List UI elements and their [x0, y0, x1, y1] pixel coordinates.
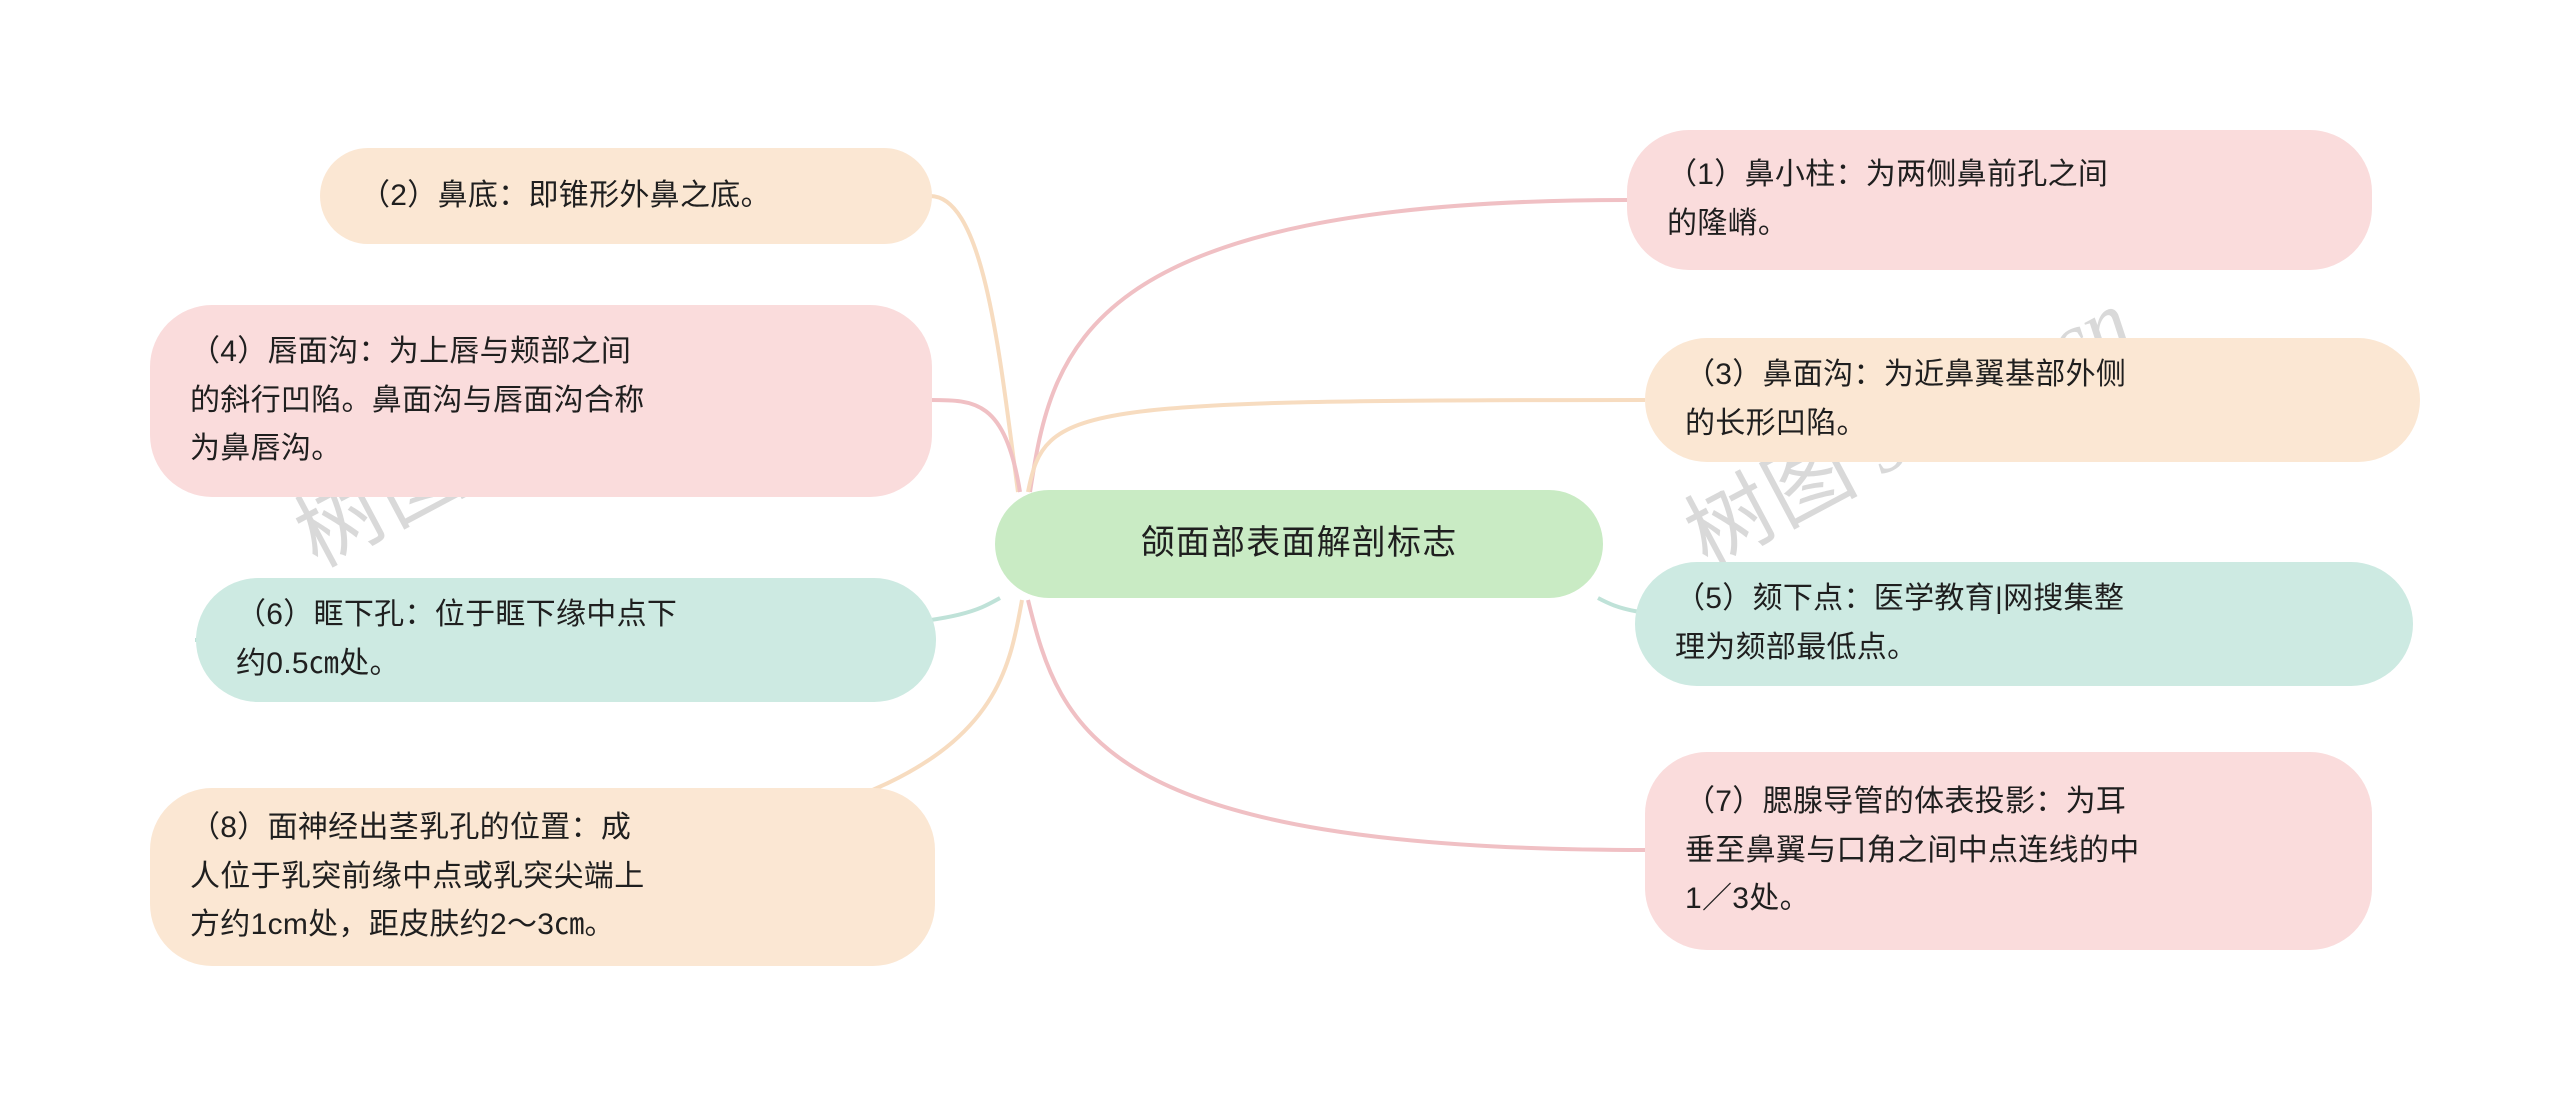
- node-center[interactable]: 颌面部表面解剖标志: [995, 490, 1603, 598]
- edge-to-node-4: [930, 400, 1020, 492]
- mindmap-canvas: 树图 shutu.cn 树图 shutu.cn （2）鼻底：即锥形外鼻之底。 （…: [0, 0, 2560, 1103]
- node-7[interactable]: （7）腮腺导管的体表投影：为耳 垂至鼻翼与口角之间中点连线的中 1／3处。: [1645, 752, 2372, 950]
- edge-to-node-3: [1028, 400, 1645, 492]
- node-3[interactable]: （3）鼻面沟：为近鼻翼基部外侧 的长形凹陷。: [1645, 338, 2420, 462]
- node-5[interactable]: （5）颏下点：医学教育|网搜集整 理为颏部最低点。: [1635, 562, 2413, 686]
- edge-to-node-2: [930, 196, 1018, 492]
- edge-to-node-7: [1028, 600, 1645, 850]
- node-6[interactable]: （6）眶下孔：位于眶下缘中点下 约0.5㎝处。: [196, 578, 936, 702]
- edge-to-node-1: [1030, 200, 1627, 492]
- node-1[interactable]: （1）鼻小柱：为两侧鼻前孔之间 的隆嵴。: [1627, 130, 2372, 270]
- node-8[interactable]: （8）面神经出茎乳孔的位置：成 人位于乳突前缘中点或乳突尖端上 方约1cm处，距…: [150, 788, 935, 966]
- node-4[interactable]: （4）唇面沟：为上唇与颊部之间 的斜行凹陷。鼻面沟与唇面沟合称 为鼻唇沟。: [150, 305, 932, 497]
- node-2[interactable]: （2）鼻底：即锥形外鼻之底。: [320, 148, 932, 244]
